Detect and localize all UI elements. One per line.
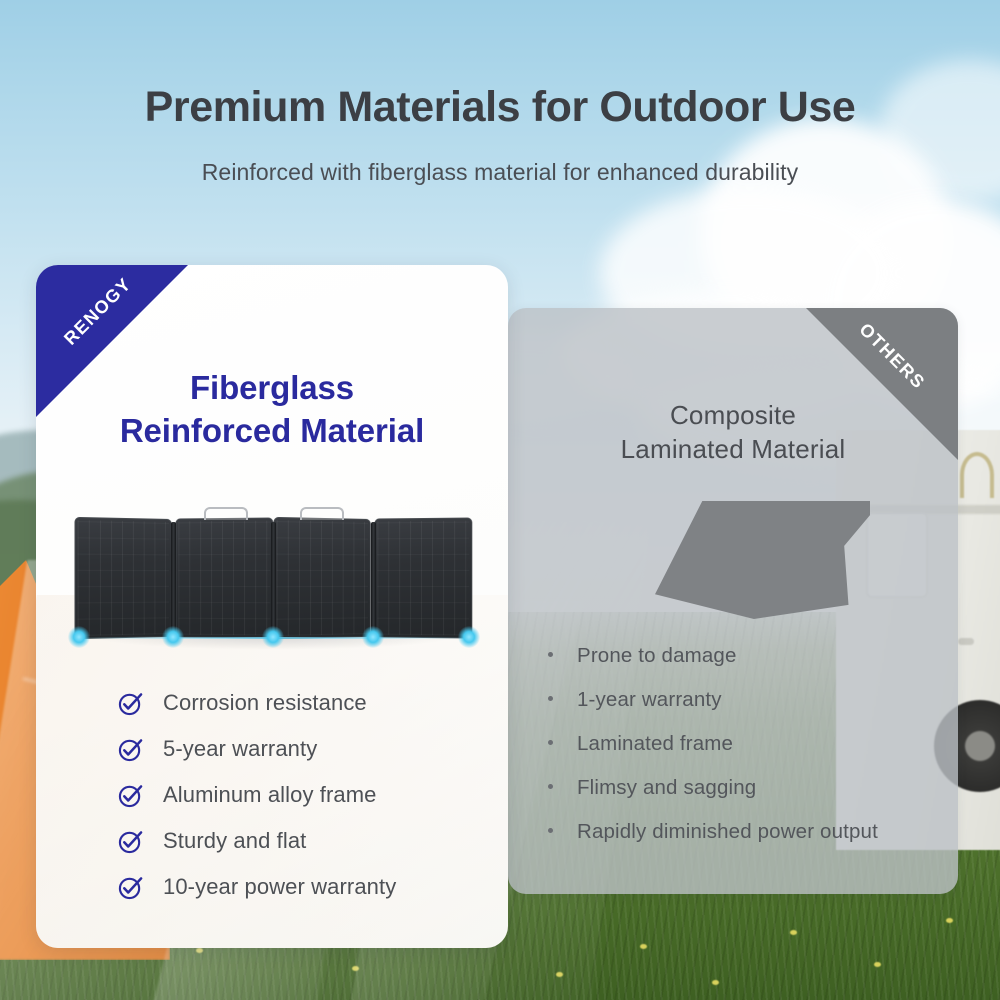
bullet-dot-icon [548, 828, 553, 833]
check-circle-icon [118, 783, 143, 808]
panel-hinge [271, 522, 276, 634]
bullet-dot-icon [548, 740, 553, 745]
promo-graphic: Premium Materials for Outdoor Use Reinfo… [0, 0, 1000, 1000]
panel-carry-handle [300, 507, 344, 520]
list-item-label: Laminated frame [577, 732, 733, 756]
list-item-label: Prone to damage [577, 644, 737, 668]
list-item: Laminated frame [542, 732, 940, 756]
others-badge-label: OTHERS [842, 308, 942, 406]
list-item: Sturdy and flat [118, 828, 490, 854]
panel-segment [175, 518, 272, 639]
renogy-card-title: Fiberglass Reinforced Material [36, 367, 508, 453]
bullet-dot-icon [548, 784, 553, 789]
panel-hinge [171, 522, 176, 634]
list-item: Corrosion resistance [118, 690, 490, 716]
others-card-title: Composite Laminated Material [508, 398, 958, 467]
check-circle-icon [118, 875, 143, 900]
panel-segment [374, 518, 471, 639]
list-item-label: 5-year warranty [163, 736, 317, 762]
panel-carry-handle [204, 507, 248, 520]
list-item: 5-year warranty [118, 736, 490, 762]
list-item-label: Sturdy and flat [163, 828, 306, 854]
panel-hinge [371, 522, 376, 634]
check-circle-icon [118, 829, 143, 854]
panel-corner-glow-icon [362, 626, 384, 648]
folding-solar-panel-image [74, 518, 472, 638]
renogy-title-line-2: Reinforced Material [36, 410, 508, 453]
others-title-line-1: Composite [508, 398, 958, 432]
panel-corner-glow-icon [262, 626, 284, 648]
others-title-line-2: Laminated Material [508, 432, 958, 466]
renogy-title-line-1: Fiberglass [36, 367, 508, 410]
header-block: Premium Materials for Outdoor Use Reinfo… [0, 82, 1000, 186]
list-item: Prone to damage [542, 644, 940, 668]
list-item: Flimsy and sagging [542, 776, 940, 800]
renogy-badge-label: RENOGY [48, 265, 148, 361]
panel-corner-glow-icon [458, 626, 480, 648]
page-subtitle: Reinforced with fiberglass material for … [0, 159, 1000, 186]
renogy-comparison-card: RENOGY Fiberglass Reinforced Material [36, 265, 508, 948]
list-item: 10-year power warranty [118, 874, 490, 900]
list-item-label: Aluminum alloy frame [163, 782, 377, 808]
panel-corner-glow-icon [162, 626, 184, 648]
list-item: Rapidly diminished power output [542, 820, 940, 844]
panel-segment [75, 517, 172, 639]
sagging-laminated-panel-image [655, 501, 870, 619]
check-circle-icon [118, 737, 143, 762]
list-item-label: Flimsy and sagging [577, 776, 756, 800]
list-item: 1-year warranty [542, 688, 940, 712]
check-circle-icon [118, 691, 143, 716]
list-item-label: Corrosion resistance [163, 690, 367, 716]
bullet-dot-icon [548, 696, 553, 701]
list-item-label: 10-year power warranty [163, 874, 396, 900]
page-title: Premium Materials for Outdoor Use [0, 82, 1000, 133]
list-item-label: Rapidly diminished power output [577, 820, 878, 844]
renogy-feature-list: Corrosion resistance 5-year warranty [118, 690, 490, 900]
others-comparison-card: OTHERS Composite Laminated Material Pron… [508, 308, 958, 894]
bullet-dot-icon [548, 652, 553, 657]
list-item-label: 1-year warranty [577, 688, 722, 712]
panel-segment [274, 517, 371, 639]
list-item: Aluminum alloy frame [118, 782, 490, 808]
others-drawback-list: Prone to damage 1-year warranty Laminate… [542, 644, 940, 844]
panel-corner-glow-icon [68, 626, 90, 648]
